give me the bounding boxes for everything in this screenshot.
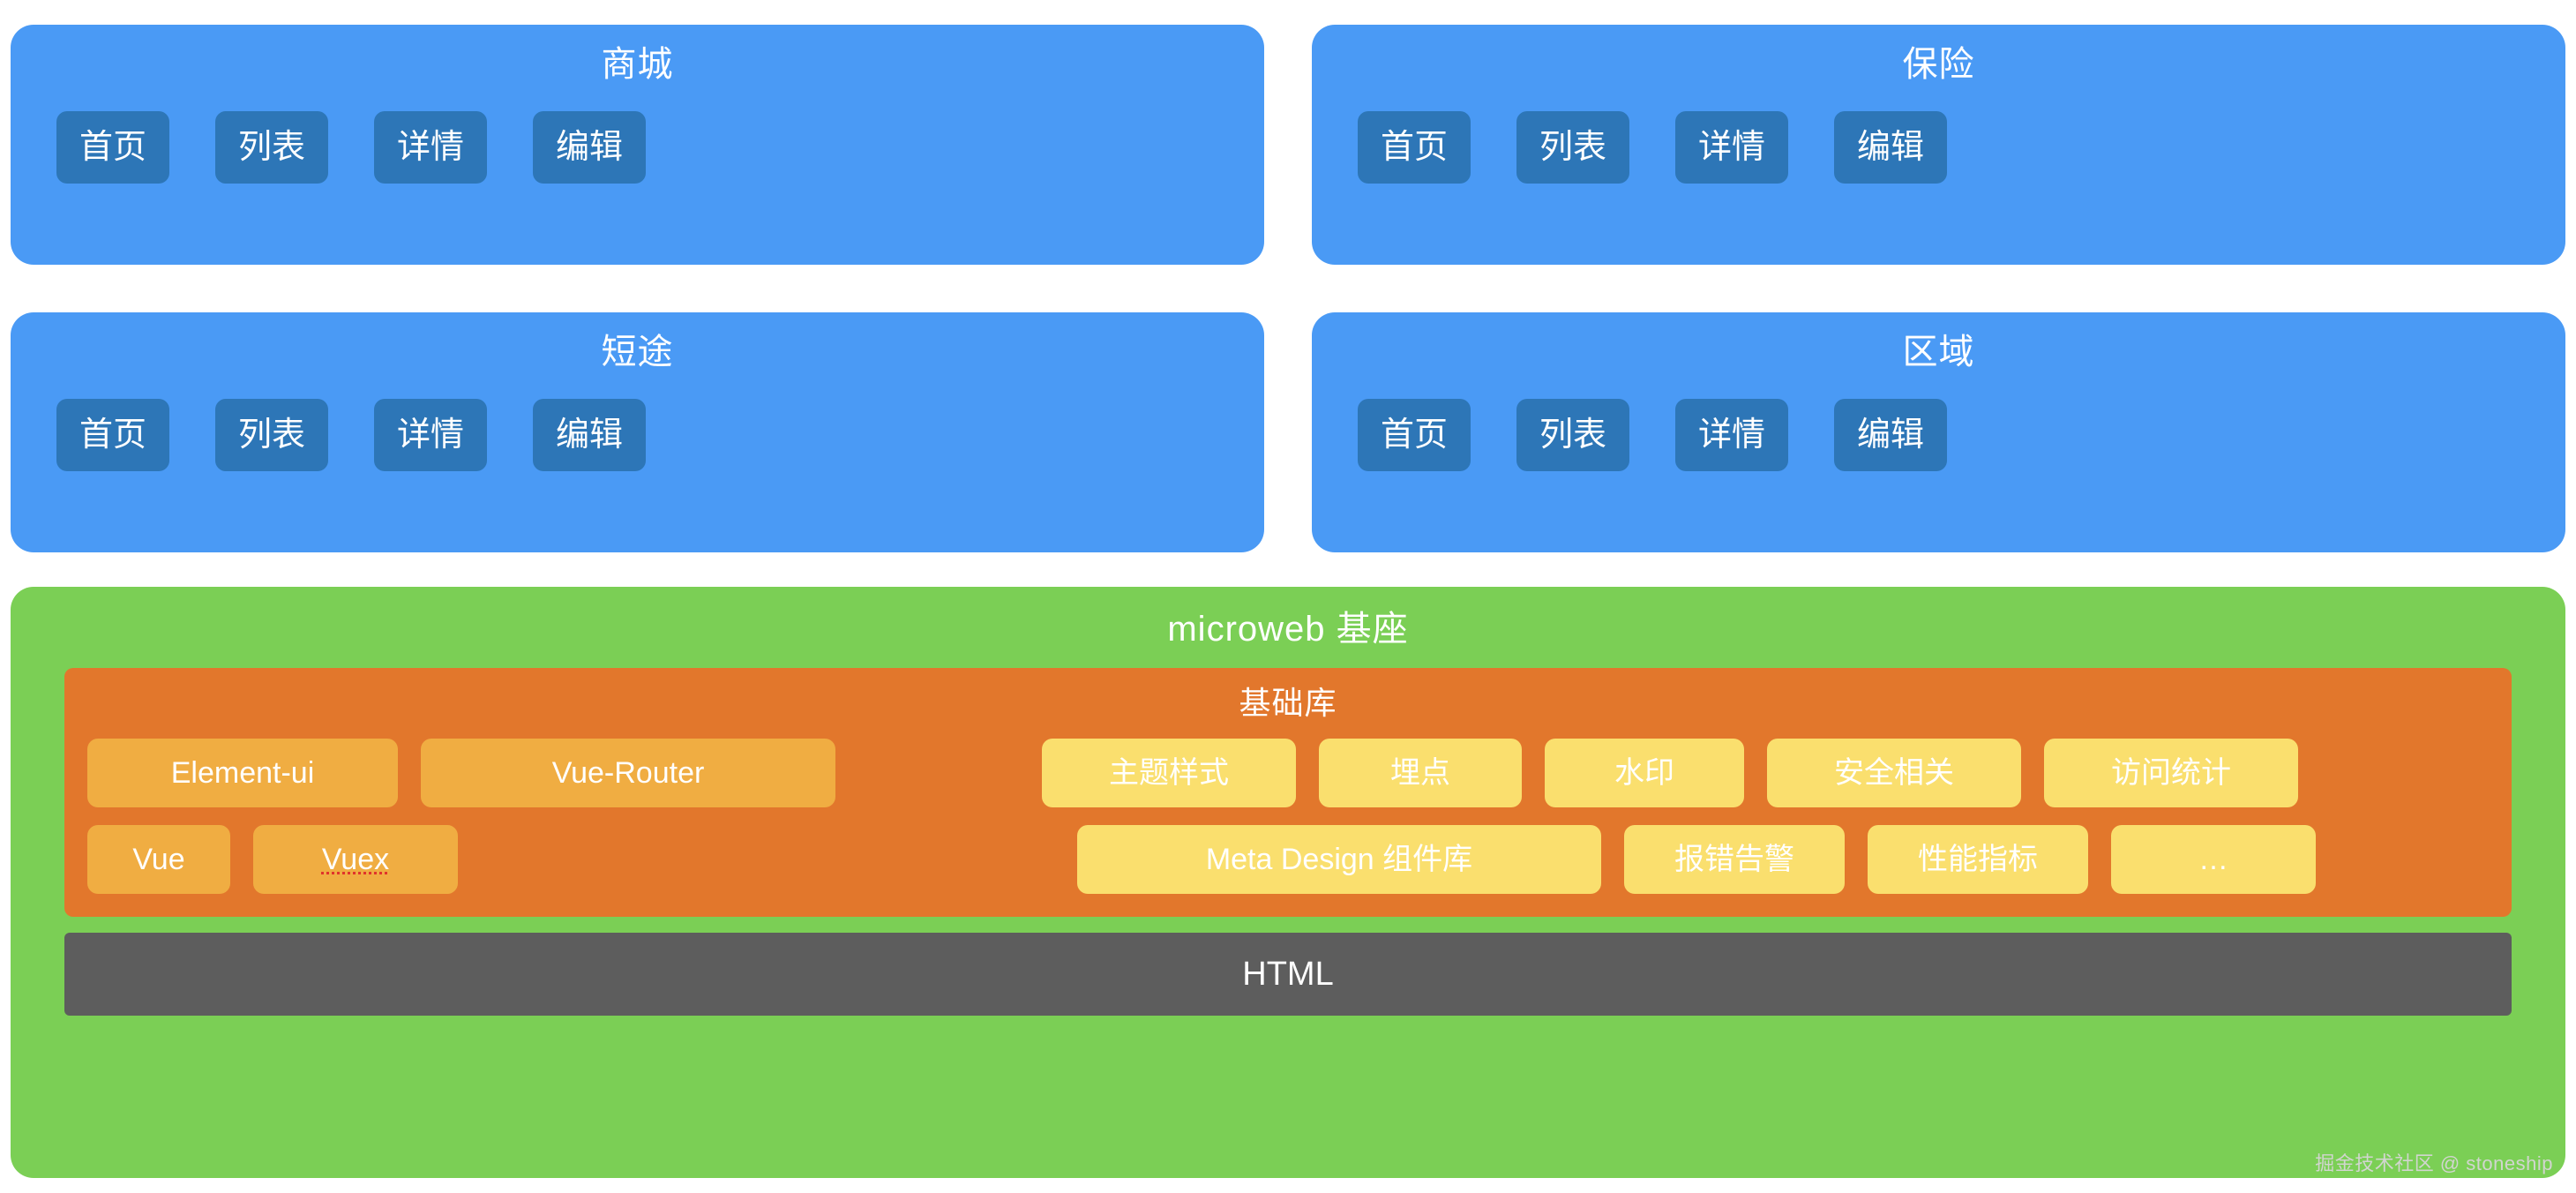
page-chip-home[interactable]: 首页 bbox=[1358, 399, 1471, 471]
base-library-title: 基础库 bbox=[87, 680, 2489, 726]
page-chip-edit[interactable]: 编辑 bbox=[533, 399, 646, 471]
base-library-panel: 基础库 Element-ui Vue-Router 主题样式 埋点 水印 安全相… bbox=[64, 668, 2512, 917]
app-panel-region: 区域 首页 列表 详情 编辑 bbox=[1312, 312, 2565, 552]
page-chip-list[interactable]: 列表 bbox=[1516, 399, 1629, 471]
page-chip-detail[interactable]: 详情 bbox=[1675, 111, 1788, 184]
lib-chip-visit-stats[interactable]: 访问统计 bbox=[2044, 739, 2298, 807]
app-panel-title: 短途 bbox=[602, 328, 674, 376]
lib-chip-vuex[interactable]: Vuex bbox=[253, 825, 458, 894]
app-panel-insurance: 保险 首页 列表 详情 编辑 bbox=[1312, 25, 2565, 265]
lib-chip-security[interactable]: 安全相关 bbox=[1767, 739, 2021, 807]
base-library-row: Vue Vuex Meta Design 组件库 报错告警 性能指标 … bbox=[87, 825, 2489, 894]
app-panel-shop: 商城 首页 列表 详情 编辑 bbox=[11, 25, 1264, 265]
page-chip-edit[interactable]: 编辑 bbox=[1834, 399, 1947, 471]
page-chip-detail[interactable]: 详情 bbox=[374, 399, 487, 471]
lib-chip-theme-style[interactable]: 主题样式 bbox=[1042, 739, 1296, 807]
page-chip-edit[interactable]: 编辑 bbox=[533, 111, 646, 184]
lib-chip-vuex-label: Vuex bbox=[322, 844, 389, 874]
page-chip-detail[interactable]: 详情 bbox=[1675, 399, 1788, 471]
page-chip-row: 首页 列表 详情 编辑 bbox=[11, 111, 1264, 184]
lib-chip-perf-metrics[interactable]: 性能指标 bbox=[1868, 825, 2088, 894]
page-chip-home[interactable]: 首页 bbox=[56, 111, 169, 184]
lib-chip-vue[interactable]: Vue bbox=[87, 825, 230, 894]
page-chip-edit[interactable]: 编辑 bbox=[1834, 111, 1947, 184]
microweb-base-panel: microweb 基座 基础库 Element-ui Vue-Router 主题… bbox=[11, 587, 2565, 1178]
page-chip-list[interactable]: 列表 bbox=[1516, 111, 1629, 184]
lib-chip-element-ui[interactable]: Element-ui bbox=[87, 739, 398, 807]
lib-chip-meta-design[interactable]: Meta Design 组件库 bbox=[1077, 825, 1601, 894]
page-chip-detail[interactable]: 详情 bbox=[374, 111, 487, 184]
page-chip-list[interactable]: 列表 bbox=[215, 399, 328, 471]
row-spacer bbox=[858, 739, 1019, 807]
base-library-rows: Element-ui Vue-Router 主题样式 埋点 水印 安全相关 访问… bbox=[87, 739, 2489, 894]
application-panels: 商城 首页 列表 详情 编辑 保险 首页 列表 详情 编辑 短途 首页 列表 bbox=[11, 25, 2565, 552]
html-platform-bar: HTML bbox=[64, 933, 2512, 1016]
app-panel-title: 保险 bbox=[1903, 41, 1975, 88]
row-spacer bbox=[481, 825, 1054, 894]
base-library-row: Element-ui Vue-Router 主题样式 埋点 水印 安全相关 访问… bbox=[87, 739, 2489, 807]
lib-chip-error-alert[interactable]: 报错告警 bbox=[1624, 825, 1845, 894]
app-panel-title: 区域 bbox=[1903, 328, 1975, 376]
microweb-base-title: microweb 基座 bbox=[64, 604, 2512, 654]
lib-chip-tracking[interactable]: 埋点 bbox=[1319, 739, 1522, 807]
app-panel-title: 商城 bbox=[602, 41, 674, 88]
architecture-diagram: 商城 首页 列表 详情 编辑 保险 首页 列表 详情 编辑 短途 首页 列表 bbox=[0, 0, 2576, 1193]
page-chip-home[interactable]: 首页 bbox=[56, 399, 169, 471]
app-panel-shorttrip: 短途 首页 列表 详情 编辑 bbox=[11, 312, 1264, 552]
page-chip-row: 首页 列表 详情 编辑 bbox=[1312, 399, 2565, 471]
lib-chip-more[interactable]: … bbox=[2111, 825, 2316, 894]
lib-chip-watermark[interactable]: 水印 bbox=[1545, 739, 1744, 807]
page-chip-home[interactable]: 首页 bbox=[1358, 111, 1471, 184]
lib-chip-vue-router[interactable]: Vue-Router bbox=[421, 739, 835, 807]
page-chip-row: 首页 列表 详情 编辑 bbox=[11, 399, 1264, 471]
page-chip-list[interactable]: 列表 bbox=[215, 111, 328, 184]
page-chip-row: 首页 列表 详情 编辑 bbox=[1312, 111, 2565, 184]
